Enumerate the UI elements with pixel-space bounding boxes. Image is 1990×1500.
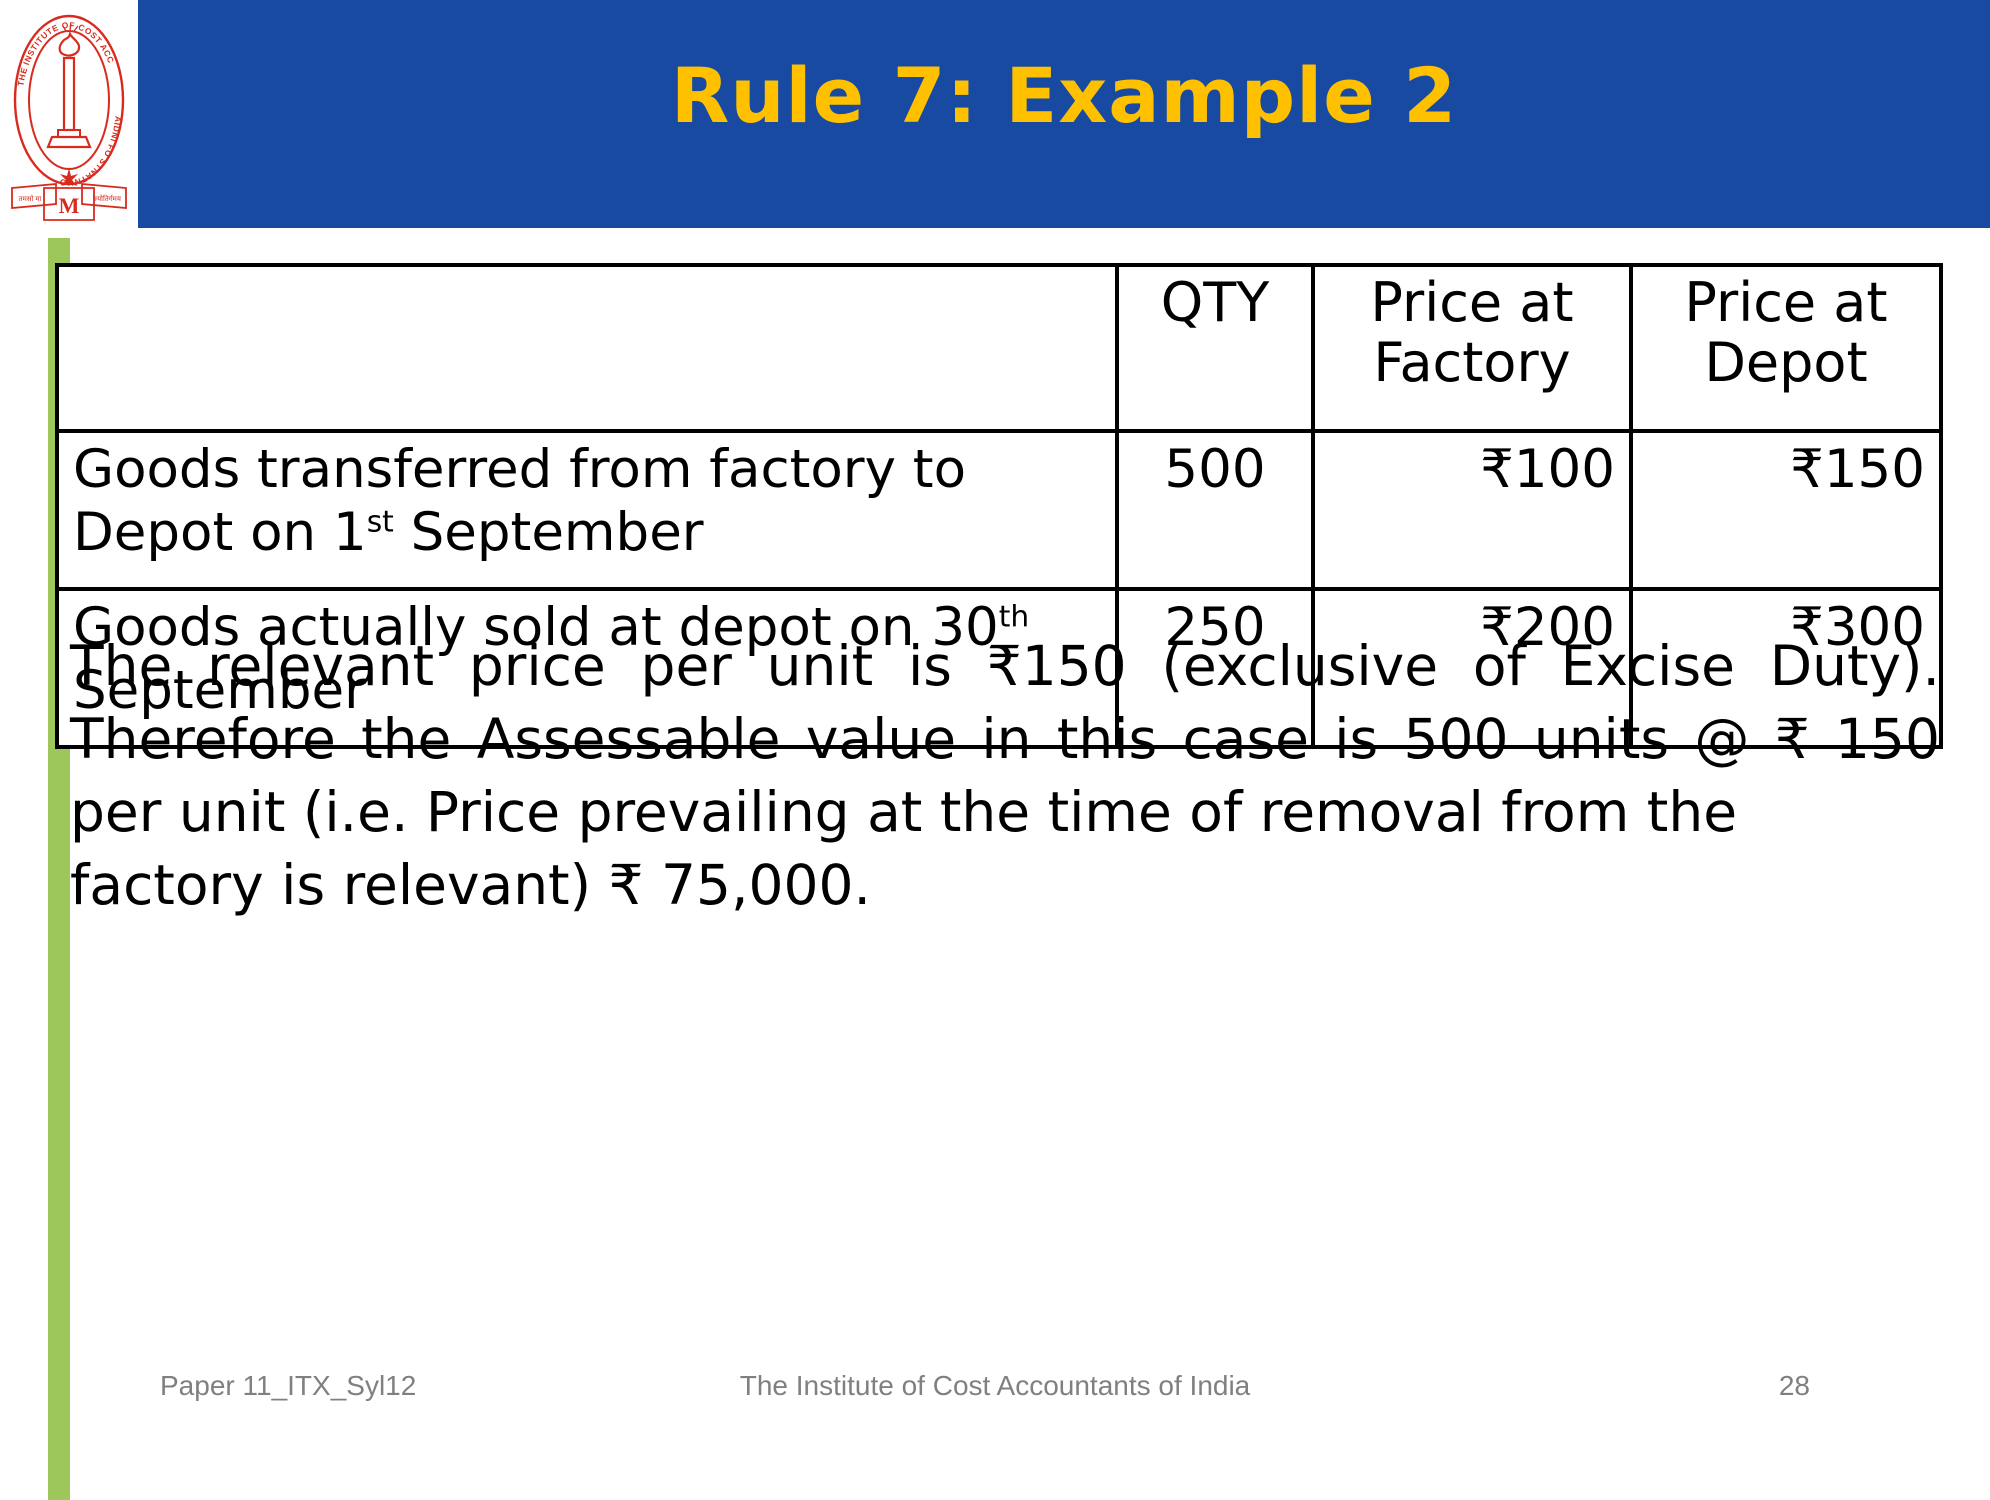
- footer-institute-name: The Institute of Cost Accountants of Ind…: [0, 1370, 1990, 1402]
- row-description-suffix: September: [394, 502, 704, 563]
- svg-text:M: M: [59, 193, 80, 218]
- row-price-depot: ₹150: [1631, 431, 1941, 589]
- table-header-row: QTY Price at Factory Price at Depot: [57, 265, 1941, 431]
- svg-text:ज्योतिर्गमय: ज्योतिर्गमय: [93, 194, 122, 203]
- institute-logo-icon: THE INSTITUTE OF COST ACC AIDNI FO STNAT…: [8, 8, 130, 230]
- table-row: Goods transferred from factory to Depot …: [57, 431, 1941, 589]
- slide-content: QTY Price at Factory Price at Depot Good…: [70, 238, 1990, 1500]
- page-title: Rule 7: Example 2: [138, 54, 1990, 138]
- row-price-factory: ₹100: [1313, 431, 1631, 589]
- explanation-text: The relevant price per unit is ₹150 (exc…: [70, 634, 1940, 844]
- explanation-last-line: factory is relevant) ₹ 75,000.: [70, 849, 1940, 922]
- table-header-blank: [57, 265, 1117, 431]
- row-description-ordinal: st: [367, 503, 394, 538]
- row-description: Goods transferred from factory to Depot …: [57, 431, 1117, 589]
- slide-footer: Paper 11_ITX_Syl12 The Institute of Cost…: [0, 1370, 1990, 1430]
- footer-page-number: 28: [1779, 1370, 1810, 1402]
- explanation-paragraph: The relevant price per unit is ₹150 (exc…: [70, 630, 1940, 923]
- table-header-price-at-depot: Price at Depot: [1631, 265, 1941, 431]
- row-description-ordinal: th: [999, 598, 1029, 633]
- table-header-price-at-factory: Price at Factory: [1313, 265, 1631, 431]
- table-header-qty: QTY: [1117, 265, 1313, 431]
- svg-text:तमसो मा: तमसो मा: [19, 194, 42, 203]
- row-qty: 500: [1117, 431, 1313, 589]
- institute-logo: THE INSTITUTE OF COST ACC AIDNI FO STNAT…: [8, 8, 130, 230]
